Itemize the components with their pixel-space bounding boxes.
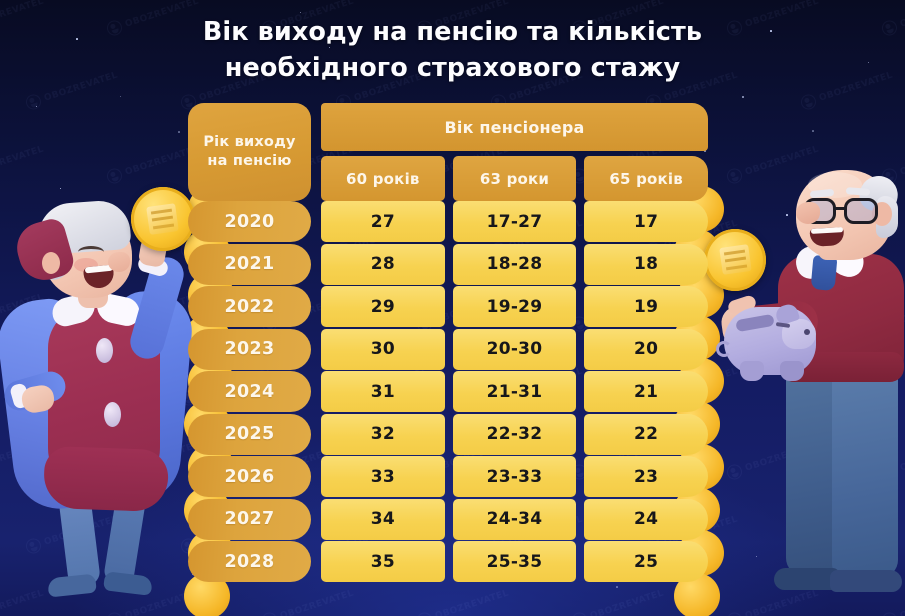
elderly-woman-holding-coin xyxy=(0,196,208,616)
table-row: 20253222-3222 xyxy=(188,414,708,455)
watermark: OBOZREVATEL xyxy=(415,586,511,616)
row-header-year: 2021 xyxy=(188,244,311,285)
obozrevatel-logo-icon xyxy=(24,93,43,112)
woman-dress-button-lower xyxy=(104,402,121,427)
watermark-text: OBOZREVATEL xyxy=(589,588,665,616)
woman-dress-hem xyxy=(43,446,169,512)
star xyxy=(60,188,61,189)
woman-dress-button-upper xyxy=(96,338,113,363)
star xyxy=(812,130,814,132)
obozrevatel-logo-icon xyxy=(415,611,434,616)
table-header: Рік виходу на пенсію Вік пенсіонера 60 р… xyxy=(188,103,708,201)
cell-r4-c1: 21-31 xyxy=(453,371,577,412)
sub-column-header-1: 63 роки xyxy=(453,156,577,201)
piggy-tail xyxy=(716,341,732,357)
cell-r0-c0: 27 xyxy=(321,201,445,242)
row-header-year: 2022 xyxy=(188,286,311,327)
woman-shoe-back xyxy=(103,571,153,596)
cell-r0-c2: 17 xyxy=(584,201,708,242)
page-title: Вік виходу на пенсію та кількість необхі… xyxy=(0,14,905,86)
cell-r5-c0: 32 xyxy=(321,414,445,455)
row-values: 3424-3424 xyxy=(321,499,708,540)
cell-r7-c2: 24 xyxy=(584,499,708,540)
obozrevatel-logo-icon xyxy=(570,611,589,616)
cell-r2-c2: 19 xyxy=(584,286,708,327)
row-header-year: 2023 xyxy=(188,329,311,370)
row-values: 3525-3525 xyxy=(321,541,708,582)
cell-r6-c0: 33 xyxy=(321,456,445,497)
cell-r3-c0: 30 xyxy=(321,329,445,370)
cell-r5-c2: 22 xyxy=(584,414,708,455)
piggy-bank-icon xyxy=(724,297,820,385)
cell-r4-c2: 21 xyxy=(584,371,708,412)
obozrevatel-logo-icon xyxy=(260,611,279,616)
row-header-year: 2020 xyxy=(188,201,311,242)
watermark: OBOZREVATEL xyxy=(105,142,201,186)
man-leg-front xyxy=(832,362,898,578)
star xyxy=(742,96,744,98)
cell-r3-c2: 20 xyxy=(584,329,708,370)
woman-shoe-front xyxy=(47,574,97,598)
table-row: 20283525-3525 xyxy=(188,541,708,582)
cell-r7-c0: 34 xyxy=(321,499,445,540)
row-header-year: 2024 xyxy=(188,371,311,412)
sub-header-row: 60 років63 роки65 років xyxy=(321,156,708,201)
row-header-year: 2027 xyxy=(188,499,311,540)
cell-r7-c1: 24-34 xyxy=(453,499,577,540)
watermark-text: OBOZREVATEL xyxy=(744,144,820,177)
column-header-retirement-year: Рік виходу на пенсію xyxy=(188,103,311,201)
cell-r1-c2: 18 xyxy=(584,244,708,285)
star xyxy=(178,131,180,133)
row-header-year: 2028 xyxy=(188,541,311,582)
piggy-leg-front xyxy=(740,361,764,381)
star xyxy=(36,106,37,107)
cell-r1-c0: 28 xyxy=(321,244,445,285)
watermark-text: OBOZREVATEL xyxy=(899,144,905,177)
cell-r3-c1: 20-30 xyxy=(453,329,577,370)
coin-banknote-glyph xyxy=(719,245,751,276)
page-title-line-2: необхідного страхового стажу xyxy=(0,50,905,86)
row-header-year: 2026 xyxy=(188,456,311,497)
man-nose xyxy=(796,202,820,224)
infographic-canvas: OBOZREVATELOBOZREVATELOBOZREVATELOBOZREV… xyxy=(0,0,905,616)
column-header-line-2: на пенсію xyxy=(207,153,291,169)
obozrevatel-logo-icon xyxy=(105,167,124,186)
cell-r2-c1: 19-29 xyxy=(453,286,577,327)
sub-column-header-0: 60 років xyxy=(321,156,445,201)
watermark: OBOZREVATEL xyxy=(260,586,356,616)
row-values: 2717-2717 xyxy=(321,201,708,242)
piggy-nostril xyxy=(804,329,810,335)
row-values: 3020-3020 xyxy=(321,329,708,370)
watermark: OBOZREVATEL xyxy=(0,142,46,186)
obozrevatel-logo-icon xyxy=(725,167,744,186)
column-group-header-pensioner-age: Вік пенсіонера xyxy=(321,103,708,151)
man-tie xyxy=(811,255,838,291)
star xyxy=(616,586,618,588)
piggy-leg-back xyxy=(780,361,804,381)
cell-r8-c1: 25-35 xyxy=(453,541,577,582)
pension-table: Рік виходу на пенсію Вік пенсіонера 60 р… xyxy=(188,103,708,584)
watermark-text: OBOZREVATEL xyxy=(0,144,45,177)
row-values: 2919-2919 xyxy=(321,286,708,327)
page-title-line-1: Вік виходу на пенсію та кількість xyxy=(0,14,905,50)
table-row: 20202717-2717 xyxy=(188,201,708,242)
watermark: OBOZREVATEL xyxy=(725,142,821,186)
row-values: 3222-3222 xyxy=(321,414,708,455)
table-row: 20222919-2919 xyxy=(188,286,708,327)
cell-r8-c0: 35 xyxy=(321,541,445,582)
man-shoe-front xyxy=(830,570,902,592)
table-body: 20202717-271720212818-281820222919-29192… xyxy=(188,201,708,582)
column-header-line-1: Рік виходу xyxy=(203,134,295,150)
woman-ear xyxy=(42,252,60,274)
cell-r0-c1: 17-27 xyxy=(453,201,577,242)
cell-r5-c1: 22-32 xyxy=(453,414,577,455)
coin-banknote-glyph xyxy=(146,203,179,235)
table-row: 20273424-3424 xyxy=(188,499,708,540)
sub-column-header-2: 65 років xyxy=(584,156,708,201)
row-values: 3121-3121 xyxy=(321,371,708,412)
star xyxy=(120,96,121,97)
cell-r2-c0: 29 xyxy=(321,286,445,327)
watermark: OBOZREVATEL xyxy=(570,586,666,616)
table-row: 20212818-2818 xyxy=(188,244,708,285)
row-values: 2818-2818 xyxy=(321,244,708,285)
table-row: 20243121-3121 xyxy=(188,371,708,412)
cell-r6-c2: 23 xyxy=(584,456,708,497)
cell-r4-c0: 31 xyxy=(321,371,445,412)
row-values: 3323-3323 xyxy=(321,456,708,497)
woman-nose xyxy=(108,252,130,272)
gold-coin-banknote-icon-right xyxy=(704,229,766,291)
table-row: 20233020-3020 xyxy=(188,329,708,370)
cell-r1-c1: 18-28 xyxy=(453,244,577,285)
gold-coin-banknote-icon-left xyxy=(131,187,195,251)
row-header-year: 2025 xyxy=(188,414,311,455)
obozrevatel-logo-icon xyxy=(799,93,818,112)
watermark-text: OBOZREVATEL xyxy=(279,588,355,616)
woman-eye-closed xyxy=(78,246,104,258)
watermark-text: OBOZREVATEL xyxy=(434,588,510,616)
table-row: 20263323-3323 xyxy=(188,456,708,497)
cell-r8-c2: 25 xyxy=(584,541,708,582)
cell-r6-c1: 23-33 xyxy=(453,456,577,497)
